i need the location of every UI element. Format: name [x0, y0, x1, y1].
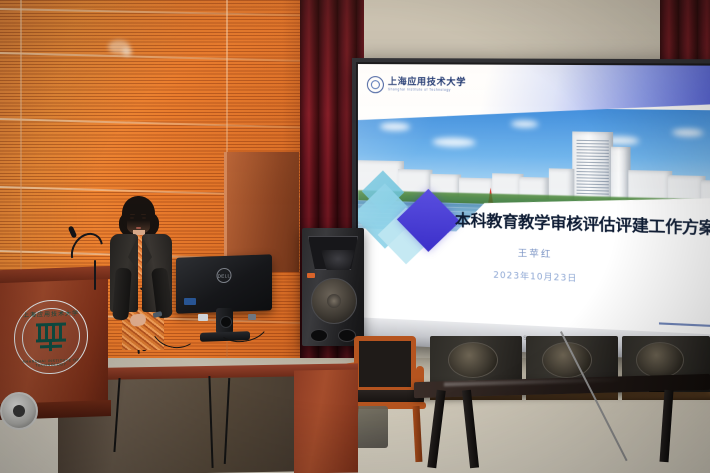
jbl-loudspeaker: [302, 228, 364, 346]
chair-draped-cloth: [354, 406, 388, 448]
led-display[interactable]: 上海应用技术大学 Shanghai Institute of Technolog…: [352, 58, 710, 363]
dell-logo-icon: DELL: [217, 268, 232, 284]
jbl-badge-icon: [307, 273, 315, 278]
emblem-name-cn: 上海应用技术大学: [15, 308, 87, 320]
emblem-gate-icon: [36, 322, 66, 351]
slide-institution-logo: 上海应用技术大学 Shanghai Institute of Technolog…: [367, 76, 466, 94]
conference-table: [414, 378, 710, 473]
presentation-slide: 上海应用技术大学 Shanghai Institute of Technolog…: [358, 64, 710, 335]
institution-seal-icon: [367, 76, 384, 93]
dell-brand-text: DELL: [218, 273, 231, 278]
display-panel: 上海应用技术大学 Shanghai Institute of Technolog…: [358, 64, 710, 335]
institution-name-cn: 上海应用技术大学: [388, 78, 466, 88]
podium-institution-emblem: 上海应用技术大学 SHANGHAI INSTITUTE OF TECHNOLOG…: [14, 299, 88, 376]
institution-name-en: Shanghai Institute of Technology: [388, 88, 466, 92]
lecture-hall-scene: 上海应用技术大学 Shanghai Institute of Technolog…: [0, 0, 710, 473]
